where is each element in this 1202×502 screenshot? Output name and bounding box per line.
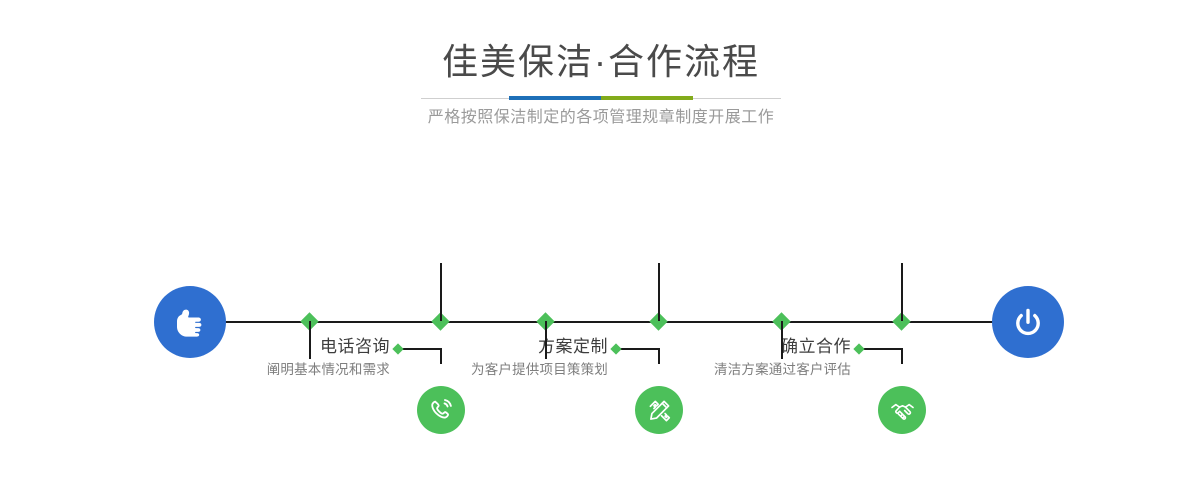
- step-label-leader-drop: [901, 348, 903, 364]
- page-subtitle: 严格按照保洁制定的各项管理规章制度开展工作: [0, 106, 1202, 130]
- step-label-tip: [853, 343, 864, 354]
- page-header: 佳美保洁·合作流程 严格按照保洁制定的各项管理规章制度开展工作: [0, 0, 1202, 140]
- handshake-icon: [889, 397, 916, 424]
- step-label: 方案定制 为客户提供项目策策划: [368, 336, 608, 380]
- step-connector-stem: [781, 321, 783, 359]
- divider-segment-blue: [509, 96, 601, 100]
- step-title: 方案定制: [368, 336, 608, 358]
- title-divider: [421, 96, 781, 100]
- step-connector-stem: [658, 263, 660, 321]
- divider-segment-green: [601, 96, 693, 100]
- process-timeline: 电话咨询 阐明基本情况和需求 签署协议 签署合同，: [0, 150, 1202, 502]
- divider-line-left: [421, 98, 509, 99]
- step-connector-stem: [309, 321, 311, 359]
- step-label-leader: [859, 348, 902, 350]
- step-connector-stem: [901, 263, 903, 321]
- step-icon-bubble: [878, 386, 926, 434]
- power-icon: [1008, 302, 1048, 342]
- page-title: 佳美保洁·合作流程: [0, 40, 1202, 84]
- step-desc: 为客户提供项目策策划: [368, 360, 608, 380]
- step-label: 电话咨询 阐明基本情况和需求: [150, 336, 390, 380]
- step-connector-stem: [545, 321, 547, 359]
- step-desc: 阐明基本情况和需求: [150, 360, 390, 380]
- step-connector-stem: [440, 263, 442, 321]
- step-label: 确立合作 清洁方案通过客户评估: [611, 336, 851, 380]
- pencil-ruler-icon: [646, 397, 673, 424]
- step-icon-bubble: [635, 386, 683, 434]
- step-desc: 清洁方案通过客户评估: [611, 360, 851, 380]
- divider-line-right: [693, 98, 781, 99]
- step-title: 确立合作: [611, 336, 851, 358]
- phone-call-icon: [427, 396, 455, 424]
- step-icon-bubble: [417, 386, 465, 434]
- step-title: 电话咨询: [150, 336, 390, 358]
- timeline-end-marker: [992, 286, 1064, 358]
- flow-diagram-page: 佳美保洁·合作流程 严格按照保洁制定的各项管理规章制度开展工作: [0, 0, 1202, 502]
